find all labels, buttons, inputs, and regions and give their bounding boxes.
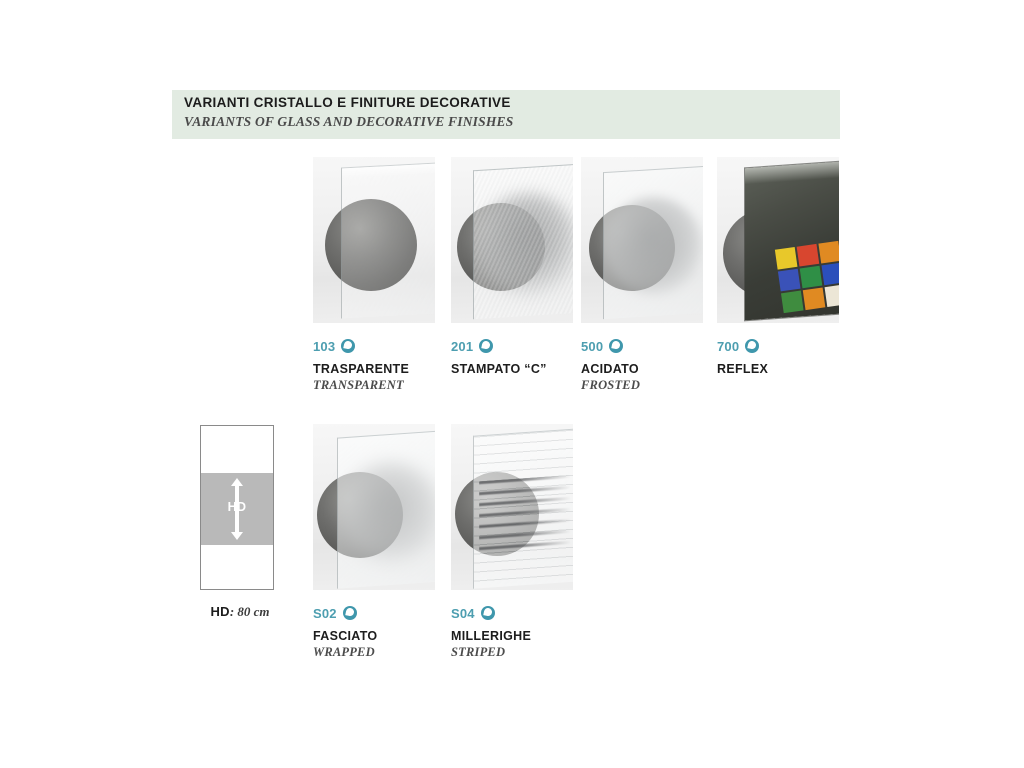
code-line: 700: [717, 337, 887, 355]
glass-sample-icon: [609, 339, 623, 353]
caption-block-S04: S04 MILLERIGHE STRIPED: [451, 604, 621, 660]
hd-caption-key: HD: [210, 604, 229, 619]
glass-sample-icon: [479, 339, 493, 353]
color-swatch: [797, 244, 820, 267]
glass-variant-card-S02[interactable]: S02 FASCIATO WRAPPED: [313, 424, 435, 590]
glass-panel: [337, 430, 435, 588]
variant-code: S02: [313, 606, 337, 621]
stripe-pattern: [479, 475, 571, 553]
color-swatch: [803, 287, 826, 310]
glass-sample-icon: [343, 606, 357, 620]
caption-block-700: 700 REFLEX: [717, 337, 887, 378]
glass-variant-card-201[interactable]: 201 STAMPATO “C”: [451, 157, 573, 323]
page-subtitle: VARIANTS OF GLASS AND DECORATIVE FINISHE…: [184, 114, 513, 130]
page-title: VARIANTI CRISTALLO E FINITURE DECORATIVE: [184, 95, 511, 110]
color-swatch: [781, 291, 804, 314]
color-swatch: [800, 266, 823, 289]
color-checker-chart: [775, 241, 839, 313]
variant-translation: FROSTED: [581, 378, 751, 393]
glass-variant-card-103[interactable]: 103 TRASPARENTE TRANSPARENT: [313, 157, 435, 323]
hd-dimension-diagram: HD HD: 80 cm: [200, 425, 274, 590]
code-line: S04: [451, 604, 621, 622]
color-swatch: [821, 263, 839, 286]
variant-code: 500: [581, 339, 603, 354]
glass-sample-photo-700: [717, 157, 839, 323]
glass-sample-photo-S02: [313, 424, 435, 590]
glass-variant-card-S04[interactable]: S04 MILLERIGHE STRIPED: [451, 424, 573, 590]
color-swatch: [818, 241, 839, 264]
glass-sample-photo-103: [313, 157, 435, 323]
variant-code: 103: [313, 339, 335, 354]
variant-code: 201: [451, 339, 473, 354]
glass-sample-icon: [745, 339, 759, 353]
variant-name: REFLEX: [717, 362, 887, 376]
section-header-banner: VARIANTI CRISTALLO E FINITURE DECORATIVE…: [172, 90, 840, 139]
glass-panel: [603, 166, 703, 319]
variant-translation: TRANSPARENT: [313, 378, 483, 393]
glass-sample-icon: [341, 339, 355, 353]
variant-code: S04: [451, 606, 475, 621]
glass-sample-icon: [481, 606, 495, 620]
hd-caption: HD: 80 cm: [190, 603, 290, 621]
hd-panel-outline: HD: [200, 425, 274, 590]
glass-variant-card-500[interactable]: 500 ACIDATO FROSTED: [581, 157, 703, 323]
color-swatch: [775, 247, 798, 270]
color-swatch: [825, 284, 839, 307]
color-swatch: [778, 269, 801, 292]
glass-sample-photo-201: [451, 157, 573, 323]
variant-translation: STRIPED: [451, 645, 621, 660]
arrow-head-down: [231, 532, 243, 540]
hd-caption-value: : 80 cm: [230, 604, 270, 619]
page-root: VARIANTI CRISTALLO E FINITURE DECORATIVE…: [0, 0, 1024, 768]
glass-panel: [473, 164, 573, 320]
variant-code: 700: [717, 339, 739, 354]
variant-name: MILLERIGHE: [451, 629, 621, 643]
glass-sample-photo-S04: [451, 424, 573, 590]
hd-band-label: HD: [228, 500, 247, 514]
glass-panel: [341, 162, 435, 318]
glass-sample-photo-500: [581, 157, 703, 323]
glass-variant-card-700[interactable]: 700 REFLEX: [717, 157, 839, 323]
